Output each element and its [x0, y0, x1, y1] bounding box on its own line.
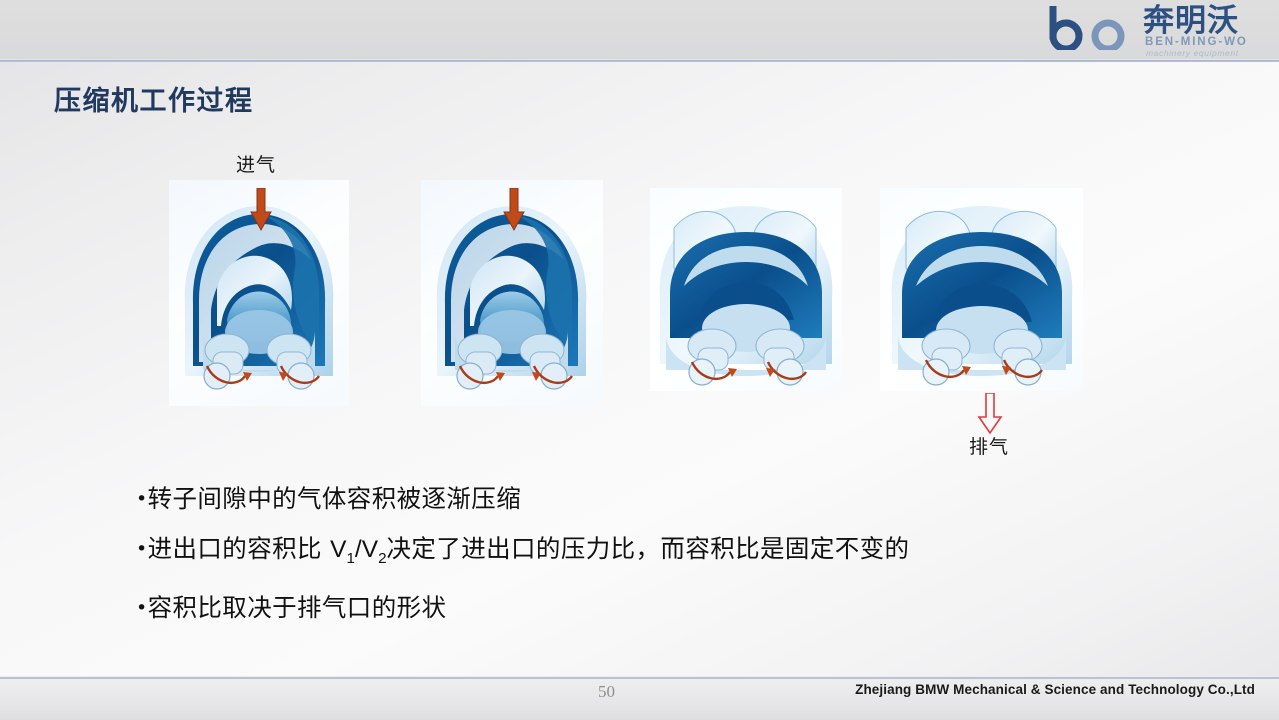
bullet-item-3: •容积比取决于排气口的形状 [136, 583, 1136, 633]
exhaust-label: 排气 [969, 432, 1009, 459]
footer-company-name: Zhejiang BMW Mechanical & Science and Te… [855, 682, 1255, 697]
bo-monogram-icon [1045, 6, 1141, 50]
bullet-text: 容积比取决于排气口的形状 [148, 593, 447, 622]
screw-rotor-illustration [650, 188, 842, 391]
bullet-list: •转子间隙中的气体容积被逐渐压缩 •进出口的容积比 V1/V2决定了进出口的压力… [136, 474, 1136, 633]
v1-subscript: 1 [346, 550, 354, 567]
intake-arrow-icon-2 [503, 188, 525, 232]
logo-tagline: machinery equipment [1146, 48, 1239, 58]
rotor-figure-stage-4 [880, 188, 1083, 391]
intake-arrow-icon-1 [250, 188, 272, 232]
slash-v2: /V [355, 536, 378, 563]
intake-label: 进气 [236, 150, 276, 177]
slide-canvas: 奔明沃 BEN-MING-WO machinery equipment 压缩机工… [0, 0, 1279, 720]
screw-rotor-illustration [880, 188, 1083, 391]
logo-chinese-name: 奔明沃 [1143, 4, 1239, 38]
rotor-figure-stage-3 [650, 188, 842, 391]
bullet-item-1: •转子间隙中的气体容积被逐渐压缩 [136, 474, 1136, 524]
exhaust-arrow-icon [977, 393, 1003, 435]
bullet-marker: • [136, 597, 148, 619]
v2-subscript: 2 [378, 550, 386, 567]
bullet-marker: • [136, 488, 148, 510]
logo-english-name: BEN-MING-WO [1145, 36, 1248, 48]
bullet-marker: • [136, 538, 148, 560]
v1-symbol: V [330, 536, 346, 563]
bullet-item-2: •进出口的容积比 V1/V2决定了进出口的压力比，而容积比是固定不变的 [136, 524, 1136, 583]
bullet-text: 转子间隙中的气体容积被逐渐压缩 [148, 484, 522, 513]
volume-ratio-formula: V1/V2 [330, 536, 386, 563]
bullet-text-post: 决定了进出口的压力比，而容积比是固定不变的 [387, 534, 910, 563]
page-title: 压缩机工作过程 [54, 79, 254, 118]
page-number: 50 [598, 682, 615, 702]
company-logo: 奔明沃 BEN-MING-WO machinery equipment [1039, 2, 1271, 58]
header-divider [0, 59, 1279, 62]
bullet-text-pre: 进出口的容积比 [148, 534, 331, 563]
